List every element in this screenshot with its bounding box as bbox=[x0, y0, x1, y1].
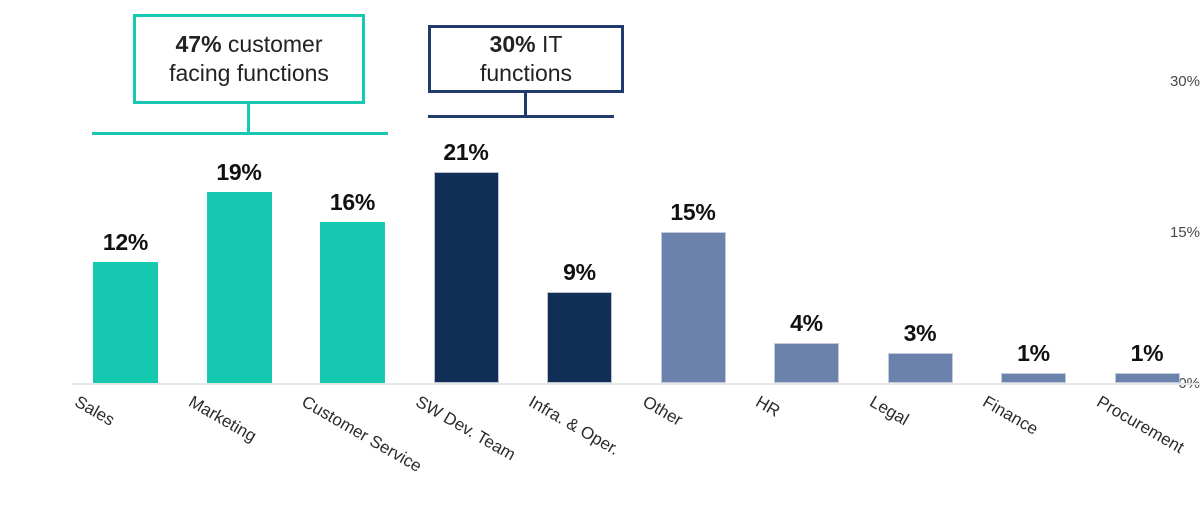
y-axis-tick-15: 15% bbox=[1138, 224, 1200, 241]
bar-value-label: 4% bbox=[747, 310, 867, 337]
bracket-it-functions-stem bbox=[524, 93, 527, 116]
bar-infra-oper[interactable] bbox=[547, 292, 612, 383]
x-axis-label: Legal bbox=[866, 392, 912, 430]
x-axis-baseline bbox=[72, 383, 1200, 385]
callout-customer-facing: 47% customer facing functions bbox=[133, 14, 365, 104]
bar-value-label: 3% bbox=[860, 320, 980, 347]
bar-sw-dev-team[interactable] bbox=[434, 172, 499, 383]
y-axis-tick-30: 30% bbox=[1138, 73, 1200, 90]
bracket-it-functions-horizontal bbox=[428, 115, 614, 118]
x-axis-label: Other bbox=[639, 392, 686, 431]
bar-value-label: 1% bbox=[974, 340, 1094, 367]
callout-it-functions: 30% IT functions bbox=[428, 25, 624, 93]
callout-it-functions-value: 30% bbox=[490, 31, 536, 57]
x-axis-label: Procurement bbox=[1093, 392, 1187, 458]
bar-value-label: 1% bbox=[1087, 340, 1200, 367]
x-axis-label: Infra. & Oper. bbox=[525, 392, 623, 460]
bar-other[interactable] bbox=[661, 232, 726, 383]
bracket-customer-facing-stem bbox=[247, 104, 250, 133]
bar-customer-service[interactable] bbox=[320, 222, 385, 383]
x-axis-label: Marketing bbox=[185, 392, 260, 447]
bar-value-label: 16% bbox=[293, 189, 413, 216]
bar-legal[interactable] bbox=[888, 353, 953, 383]
bar-chart: 30% 15% 0% 12%19%16%21%9%15%4%3%1%1% Sal… bbox=[0, 0, 1200, 513]
bar-sales[interactable] bbox=[93, 262, 158, 383]
bar-value-label: 9% bbox=[520, 259, 640, 286]
bar-value-label: 21% bbox=[406, 139, 526, 166]
bracket-customer-facing-horizontal bbox=[92, 132, 388, 135]
x-axis-label: Customer Service bbox=[298, 392, 425, 477]
x-axis-label: HR bbox=[752, 392, 783, 422]
x-axis-label: Sales bbox=[71, 392, 118, 431]
bar-marketing[interactable] bbox=[207, 192, 272, 383]
bar-value-label: 15% bbox=[633, 199, 753, 226]
bar-hr[interactable] bbox=[774, 343, 839, 383]
plot-area: 30% 15% 0% 12%19%16%21%9%15%4%3%1%1% Sal… bbox=[0, 0, 1200, 513]
x-axis-label: Finance bbox=[979, 392, 1041, 440]
bar-value-label: 12% bbox=[66, 229, 186, 256]
bar-finance[interactable] bbox=[1001, 373, 1066, 383]
bar-value-label: 19% bbox=[179, 159, 299, 186]
callout-customer-facing-value: 47% bbox=[175, 31, 221, 57]
x-axis-label: SW Dev. Team bbox=[412, 392, 519, 465]
bar-procurement[interactable] bbox=[1115, 373, 1180, 383]
